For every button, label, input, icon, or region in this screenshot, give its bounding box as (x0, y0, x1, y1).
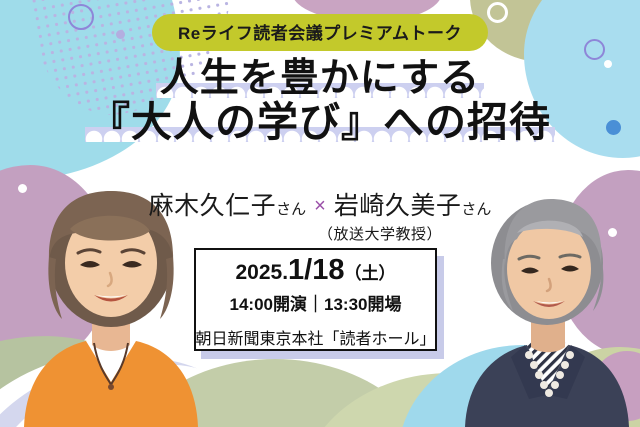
event-title: 人生を豊かにする 『大人の学び』への招待 (0, 58, 640, 144)
event-details-box: 2025.1/18（土） 14:00開演｜13:30開場 朝日新聞東京本社「読者… (194, 248, 437, 351)
event-venue: 朝日新聞東京本社「読者ホール」 (196, 325, 436, 349)
banner-content: Reライフ読者会議プレミアムトーク 人生を豊かにする 『大人の学び』への招待 麻… (0, 0, 640, 427)
title-line-1-text: 人生を豊かにする (160, 57, 480, 100)
title-line-2: 『大人の学び』への招待 (89, 100, 551, 144)
event-date: 2025.1/18（土） (235, 256, 395, 285)
premium-talk-badge: Reライフ読者会議プレミアムトーク (152, 14, 488, 51)
event-month-day: 1/18 (288, 254, 344, 286)
speaker-1-name: 麻木久仁子 (149, 192, 277, 220)
speaker-separator-icon: × (314, 195, 326, 217)
event-time: 14:00開演｜13:30開場 (230, 290, 402, 315)
event-day-of-week: （土） (345, 264, 396, 283)
title-line-2-text: 『大人の学び』への招待 (89, 99, 551, 145)
speaker-2-suffix: さん (461, 201, 491, 218)
event-banner: Reライフ読者会議プレミアムトーク 人生を豊かにする 『大人の学び』への招待 麻… (0, 0, 640, 427)
event-year: 2025. (235, 261, 288, 284)
speaker-1-suffix: さん (276, 201, 306, 218)
speaker-2-name: 岩崎久美子 (334, 192, 462, 220)
title-line-1: 人生を豊かにする (160, 58, 480, 100)
speaker-list: 麻木久仁子さん×岩崎久美子さん （放送大学教授） (0, 186, 640, 244)
speaker-2-affiliation: （放送大学教授） (0, 223, 640, 244)
